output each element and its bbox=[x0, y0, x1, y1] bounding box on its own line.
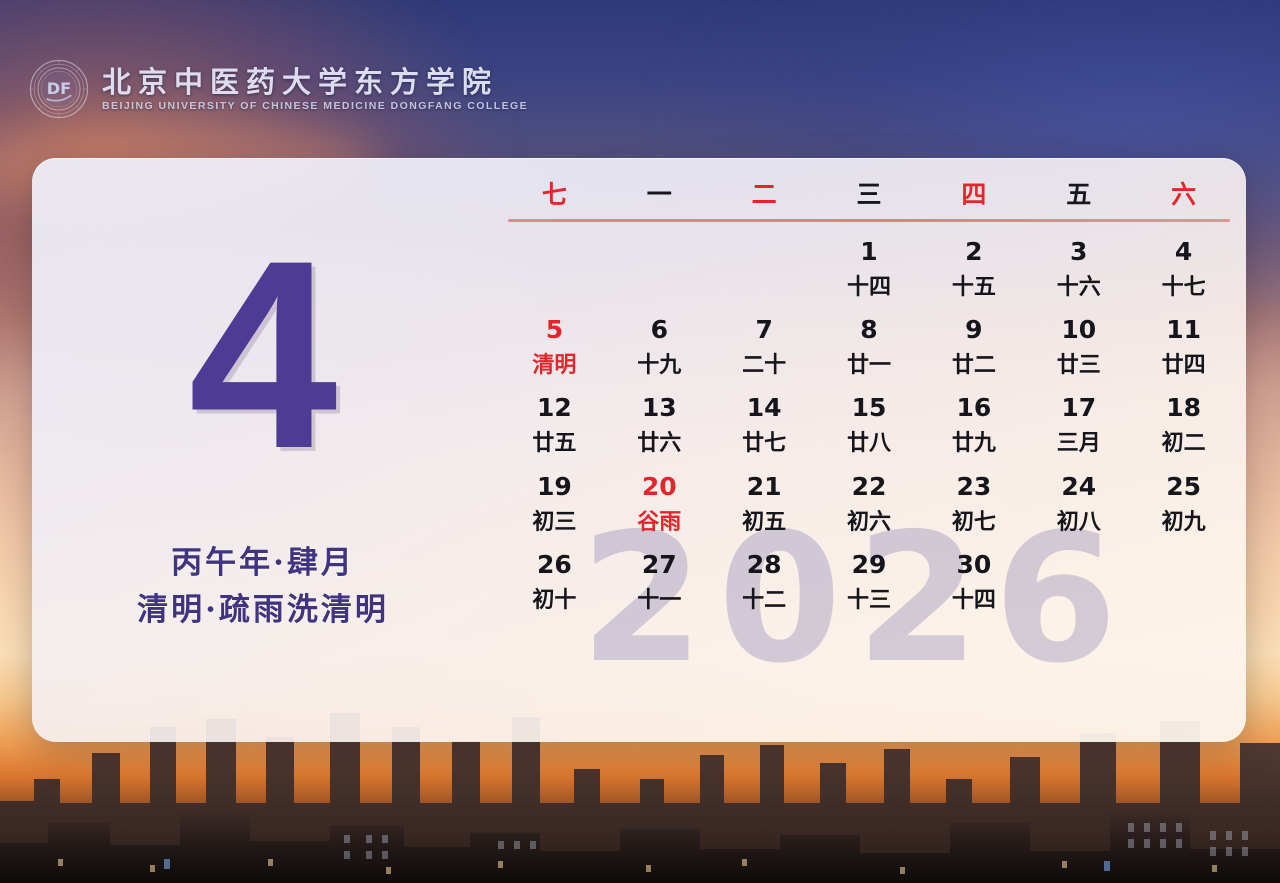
calendar-day-cell[interactable]: 21初五 bbox=[712, 473, 817, 535]
weekday-header-cell: 二 bbox=[712, 172, 817, 219]
day-lunar-label: 廿七 bbox=[712, 432, 817, 456]
calendar-day-cell[interactable]: 16廿九 bbox=[921, 394, 1026, 456]
calendar-day-cell[interactable]: 1十四 bbox=[817, 238, 922, 300]
weekday-header-cell: 五 bbox=[1026, 172, 1131, 219]
calendar-week-row: 5清明6十九7二十8廿一9廿二10廿三11廿四 bbox=[502, 316, 1236, 378]
calendar-day-cell[interactable]: 15廿八 bbox=[817, 394, 922, 456]
day-number: 23 bbox=[921, 473, 1026, 500]
day-number: 12 bbox=[502, 394, 607, 421]
day-lunar-label: 二十 bbox=[712, 354, 817, 378]
day-number: 24 bbox=[1026, 473, 1131, 500]
calendar-day-cell[interactable]: 24初八 bbox=[1026, 473, 1131, 535]
day-number: 8 bbox=[817, 316, 922, 343]
day-lunar-label: 十三 bbox=[817, 589, 922, 613]
day-lunar-label: 十一 bbox=[607, 589, 712, 613]
calendar-day-cell[interactable]: 7二十 bbox=[712, 316, 817, 378]
day-lunar-label: 十七 bbox=[1131, 276, 1236, 300]
calendar-poster: DF 北京中医药大学东方学院 BEIJING UNIVERSITY OF CHI… bbox=[0, 0, 1280, 883]
day-number: 21 bbox=[712, 473, 817, 500]
svg-text:DF: DF bbox=[47, 79, 71, 98]
day-number: 16 bbox=[921, 394, 1026, 421]
day-number: 18 bbox=[1131, 394, 1236, 421]
day-lunar-label: 廿九 bbox=[921, 432, 1026, 456]
university-name-en: BEIJING UNIVERSITY OF CHINESE MEDICINE D… bbox=[102, 101, 528, 112]
calendar-week-row: 1十四2十五3十六4十七 bbox=[502, 238, 1236, 300]
month-number: 4 bbox=[32, 220, 494, 488]
day-number: 2 bbox=[921, 238, 1026, 265]
calendar-day-cell bbox=[1131, 551, 1236, 613]
calendar-day-cell[interactable]: 19初三 bbox=[502, 473, 607, 535]
weekday-header-cell: 一 bbox=[607, 172, 712, 219]
calendar-day-cell[interactable]: 23初七 bbox=[921, 473, 1026, 535]
calendar-day-cell bbox=[712, 238, 817, 300]
weekday-header-cell: 三 bbox=[817, 172, 922, 219]
university-name-cn: 北京中医药大学东方学院 bbox=[102, 68, 528, 97]
day-number: 11 bbox=[1131, 316, 1236, 343]
calendar-day-cell[interactable]: 2十五 bbox=[921, 238, 1026, 300]
weekday-header-cell: 六 bbox=[1131, 172, 1236, 219]
calendar-day-cell[interactable]: 28十二 bbox=[712, 551, 817, 613]
day-number: 15 bbox=[817, 394, 922, 421]
calendar-day-cell[interactable]: 6十九 bbox=[607, 316, 712, 378]
day-lunar-label: 廿六 bbox=[607, 432, 712, 456]
day-number: 1 bbox=[817, 238, 922, 265]
calendar-grid: 七一二三四五六 1十四2十五3十六4十七5清明6十九7二十8廿一9廿二10廿三1… bbox=[502, 172, 1236, 613]
calendar-day-cell[interactable]: 4十七 bbox=[1131, 238, 1236, 300]
calendar-day-cell[interactable]: 20谷雨 bbox=[607, 473, 712, 535]
day-number: 30 bbox=[921, 551, 1026, 578]
month-panel: 4 丙午年·肆月 清明·疏雨洗清明 bbox=[32, 158, 494, 742]
day-lunar-label: 十二 bbox=[712, 589, 817, 613]
calendar-day-cell[interactable]: 17三月 bbox=[1026, 394, 1131, 456]
day-number: 3 bbox=[1026, 238, 1131, 265]
day-lunar-label: 廿二 bbox=[921, 354, 1026, 378]
calendar-day-cell[interactable]: 29十三 bbox=[817, 551, 922, 613]
calendar-day-cell[interactable]: 12廿五 bbox=[502, 394, 607, 456]
weekday-header-cell: 四 bbox=[921, 172, 1026, 219]
university-logo: DF 北京中医药大学东方学院 BEIJING UNIVERSITY OF CHI… bbox=[28, 58, 528, 120]
day-lunar-label: 初八 bbox=[1026, 511, 1131, 535]
calendar-day-cell[interactable]: 18初二 bbox=[1131, 394, 1236, 456]
day-lunar-label: 十六 bbox=[1026, 276, 1131, 300]
day-lunar-label: 谷雨 bbox=[607, 511, 712, 535]
day-lunar-label: 初十 bbox=[502, 589, 607, 613]
day-lunar-label: 初二 bbox=[1131, 432, 1236, 456]
calendar-day-cell[interactable]: 11廿四 bbox=[1131, 316, 1236, 378]
weekday-header-cell: 七 bbox=[502, 172, 607, 219]
day-number: 27 bbox=[607, 551, 712, 578]
calendar-day-cell[interactable]: 8廿一 bbox=[817, 316, 922, 378]
solar-term-line: 清明·疏雨洗清明 bbox=[32, 587, 494, 634]
day-lunar-label: 十四 bbox=[817, 276, 922, 300]
calendar-day-cell[interactable]: 10廿三 bbox=[1026, 316, 1131, 378]
calendar-day-cell[interactable]: 9廿二 bbox=[921, 316, 1026, 378]
day-number: 5 bbox=[502, 316, 607, 343]
day-lunar-label: 十四 bbox=[921, 589, 1026, 613]
day-lunar-label: 三月 bbox=[1026, 432, 1131, 456]
calendar-week-row: 19初三20谷雨21初五22初六23初七24初八25初九 bbox=[502, 473, 1236, 535]
calendar-card: 2026 4 丙午年·肆月 清明·疏雨洗清明 七一二三四五六 1十四2十五3十六… bbox=[32, 158, 1246, 742]
lunar-info: 丙午年·肆月 清明·疏雨洗清明 bbox=[32, 540, 494, 633]
day-number: 6 bbox=[607, 316, 712, 343]
day-lunar-label: 廿五 bbox=[502, 432, 607, 456]
university-seal-icon: DF bbox=[28, 58, 90, 120]
day-number: 13 bbox=[607, 394, 712, 421]
calendar-week-row: 26初十27十一28十二29十三30十四 bbox=[502, 551, 1236, 613]
day-number: 14 bbox=[712, 394, 817, 421]
calendar-day-cell bbox=[1026, 551, 1131, 613]
calendar-day-cell bbox=[607, 238, 712, 300]
calendar-day-cell[interactable]: 26初十 bbox=[502, 551, 607, 613]
calendar-day-cell[interactable]: 25初九 bbox=[1131, 473, 1236, 535]
header-divider bbox=[508, 219, 1230, 222]
calendar-weeks: 1十四2十五3十六4十七5清明6十九7二十8廿一9廿二10廿三11廿四12廿五1… bbox=[502, 238, 1236, 613]
day-number: 19 bbox=[502, 473, 607, 500]
day-number: 4 bbox=[1131, 238, 1236, 265]
day-number: 10 bbox=[1026, 316, 1131, 343]
calendar-day-cell[interactable]: 13廿六 bbox=[607, 394, 712, 456]
day-lunar-label: 初六 bbox=[817, 511, 922, 535]
calendar-day-cell[interactable]: 30十四 bbox=[921, 551, 1026, 613]
day-lunar-label: 廿一 bbox=[817, 354, 922, 378]
day-number: 29 bbox=[817, 551, 922, 578]
calendar-day-cell[interactable]: 3十六 bbox=[1026, 238, 1131, 300]
day-number: 28 bbox=[712, 551, 817, 578]
day-number: 26 bbox=[502, 551, 607, 578]
calendar-day-cell[interactable]: 22初六 bbox=[817, 473, 922, 535]
day-lunar-label: 十九 bbox=[607, 354, 712, 378]
day-number: 9 bbox=[921, 316, 1026, 343]
day-lunar-label: 廿三 bbox=[1026, 354, 1131, 378]
day-lunar-label: 初五 bbox=[712, 511, 817, 535]
day-lunar-label: 初九 bbox=[1131, 511, 1236, 535]
calendar-day-cell[interactable]: 27十一 bbox=[607, 551, 712, 613]
day-lunar-label: 十五 bbox=[921, 276, 1026, 300]
day-number: 25 bbox=[1131, 473, 1236, 500]
day-number: 7 bbox=[712, 316, 817, 343]
day-lunar-label: 初七 bbox=[921, 511, 1026, 535]
calendar-day-cell[interactable]: 14廿七 bbox=[712, 394, 817, 456]
weekday-header-row: 七一二三四五六 bbox=[502, 172, 1236, 219]
day-lunar-label: 廿四 bbox=[1131, 354, 1236, 378]
day-lunar-label: 初三 bbox=[502, 511, 607, 535]
calendar-week-row: 12廿五13廿六14廿七15廿八16廿九17三月18初二 bbox=[502, 394, 1236, 456]
calendar-day-cell[interactable]: 5清明 bbox=[502, 316, 607, 378]
calendar-day-cell bbox=[502, 238, 607, 300]
logo-text-block: 北京中医药大学东方学院 BEIJING UNIVERSITY OF CHINES… bbox=[102, 66, 528, 112]
lunar-year-month: 丙午年·肆月 bbox=[32, 540, 494, 587]
day-lunar-label: 清明 bbox=[502, 354, 607, 378]
day-lunar-label: 廿八 bbox=[817, 432, 922, 456]
day-number: 20 bbox=[607, 473, 712, 500]
day-number: 17 bbox=[1026, 394, 1131, 421]
day-number: 22 bbox=[817, 473, 922, 500]
